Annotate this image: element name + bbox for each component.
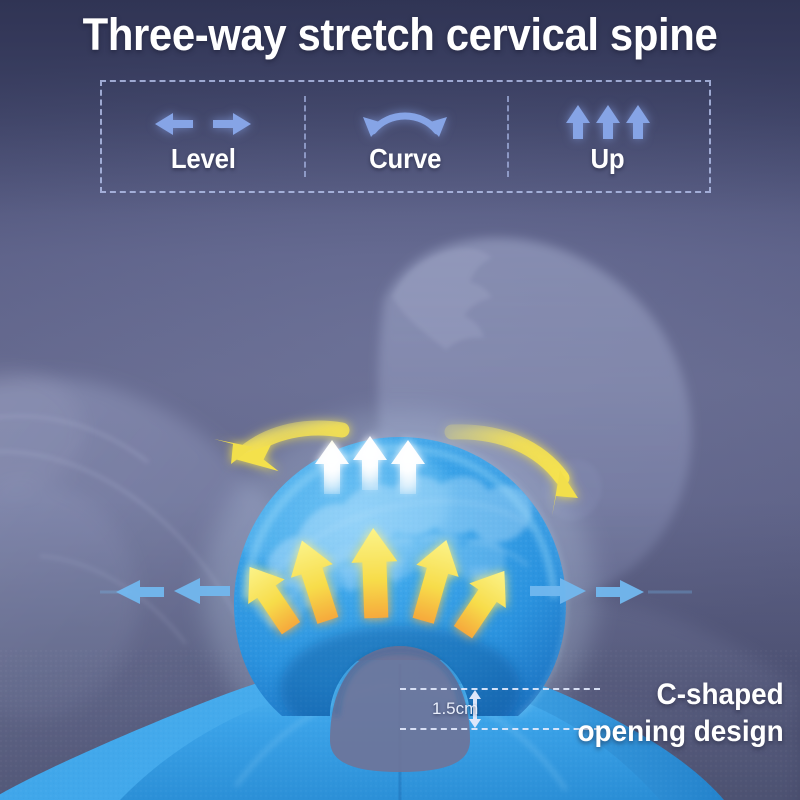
- feature-label: Level: [171, 143, 236, 175]
- feature-label: Up: [591, 143, 625, 175]
- curved-double-arrow-icon: [351, 99, 459, 141]
- feature-curve[interactable]: Curve: [304, 82, 506, 191]
- measure-value: 1.5cm: [432, 696, 478, 722]
- measure-line-bottom: [400, 728, 600, 730]
- product-caption: C-shaped opening design: [578, 676, 784, 750]
- measure-line-top: [400, 688, 600, 690]
- left-right-arrows-icon: [149, 99, 257, 141]
- caption-line-1: C-shaped: [578, 676, 784, 713]
- page-title: Three-way stretch cervical spine: [28, 9, 772, 61]
- product-feature-graphic: Three-way stretch cervical spine Level: [0, 0, 800, 800]
- three-up-arrows-icon: [558, 99, 658, 141]
- feature-box: Level Curve: [100, 80, 711, 193]
- feature-up[interactable]: Up: [507, 82, 709, 191]
- measurement-annotation: 1.5cm: [400, 688, 570, 734]
- feature-label: Curve: [369, 143, 441, 175]
- white-up-arrows: [315, 436, 425, 494]
- feature-level[interactable]: Level: [102, 82, 304, 191]
- caption-line-2: opening design: [578, 713, 784, 750]
